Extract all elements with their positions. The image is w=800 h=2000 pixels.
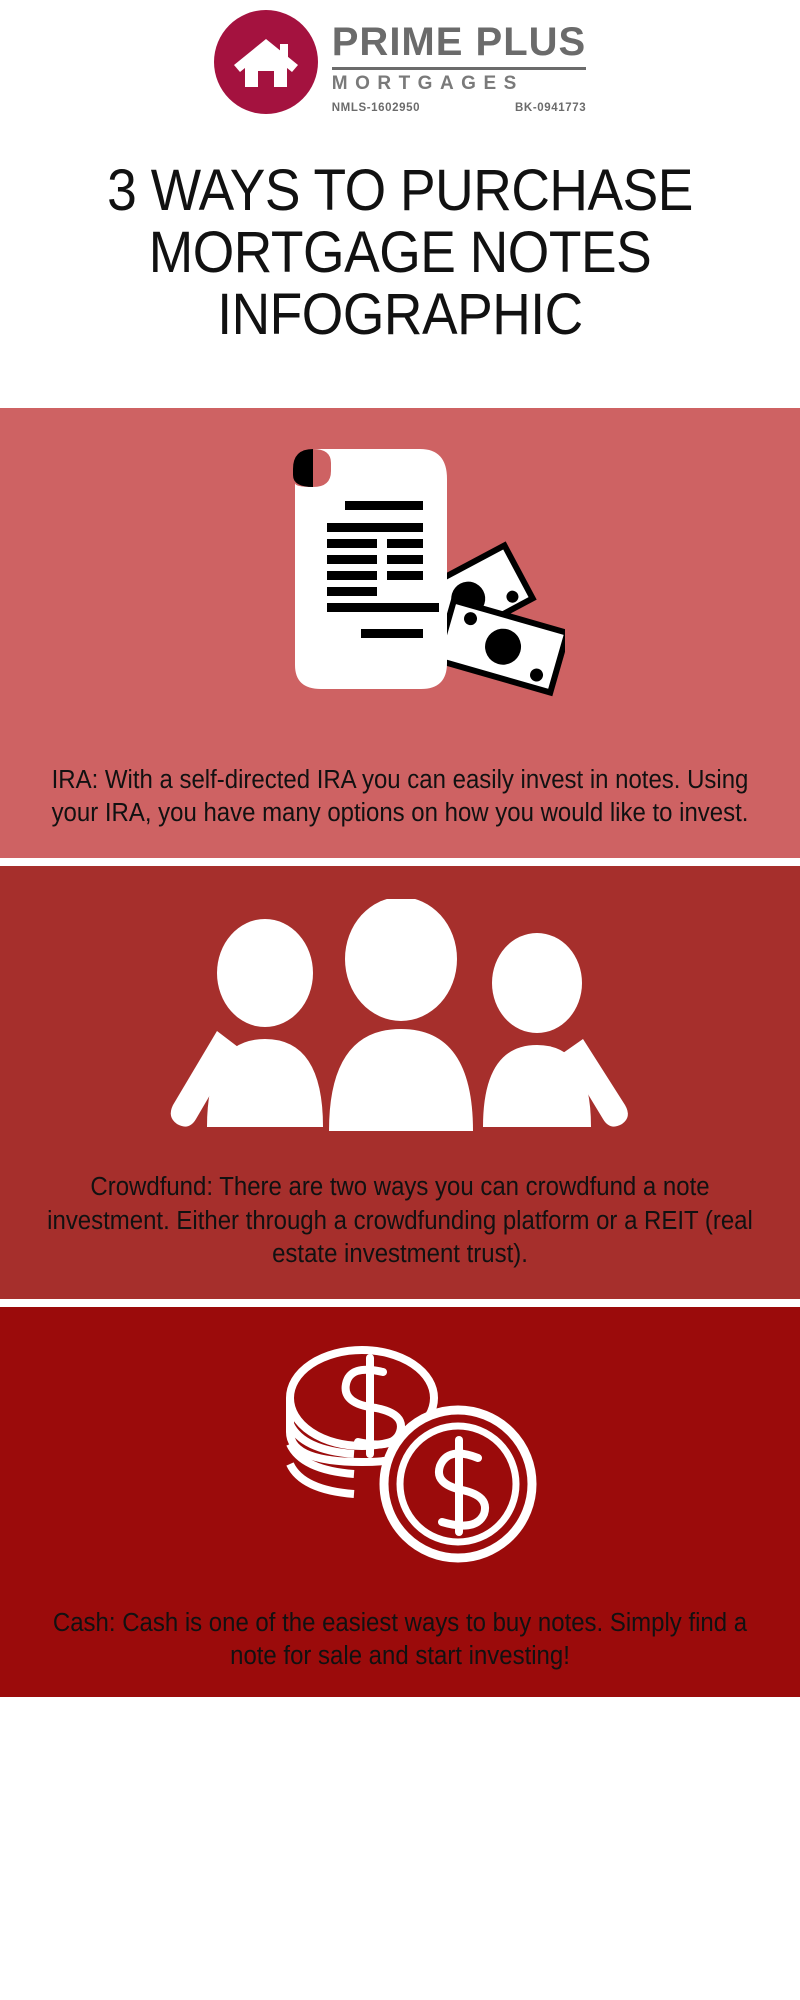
panel-cash-caption: Cash: Cash is one of the easiest ways to… bbox=[29, 1607, 772, 1679]
panel-crowdfund: Crowdfund: There are two ways you can cr… bbox=[0, 866, 800, 1298]
stacked-coins-dollar-icon bbox=[0, 1307, 800, 1607]
panel-divider-1 bbox=[0, 858, 800, 866]
license-bk: BK-0941773 bbox=[515, 102, 586, 114]
panel-divider-2 bbox=[0, 1299, 800, 1307]
panel-crowdfund-caption: Crowdfund: There are two ways you can cr… bbox=[29, 1171, 772, 1276]
logo-divider-rule bbox=[332, 67, 586, 70]
brand-name-primary: PRIME PLUS bbox=[332, 22, 586, 62]
page-title: 3 WAYS TO PURCHASE MORTGAGE NOTES INFOGR… bbox=[50, 160, 749, 346]
logo-lockup: PRIME PLUS MORTGAGES NMLS-1602950 BK-094… bbox=[214, 10, 586, 114]
panel-ira-caption: IRA: With a self-directed IRA you can ea… bbox=[29, 764, 772, 836]
logo-wordmark: PRIME PLUS MORTGAGES NMLS-1602950 BK-094… bbox=[332, 10, 586, 114]
panel-ira: IRA: With a self-directed IRA you can ea… bbox=[0, 408, 800, 858]
infographic-page: PRIME PLUS MORTGAGES NMLS-1602950 BK-094… bbox=[0, 0, 800, 2000]
group-of-people-icon bbox=[0, 866, 800, 1171]
document-with-cash-icon bbox=[0, 408, 800, 764]
brand-name-secondary: MORTGAGES bbox=[332, 74, 586, 95]
panel-list: IRA: With a self-directed IRA you can ea… bbox=[0, 408, 800, 1697]
house-icon bbox=[214, 10, 318, 114]
brand-header: PRIME PLUS MORTGAGES NMLS-1602950 BK-094… bbox=[0, 0, 800, 114]
license-nmls: NMLS-1602950 bbox=[332, 102, 420, 114]
license-row: NMLS-1602950 BK-0941773 bbox=[332, 102, 586, 114]
panel-cash: Cash: Cash is one of the easiest ways to… bbox=[0, 1307, 800, 1697]
